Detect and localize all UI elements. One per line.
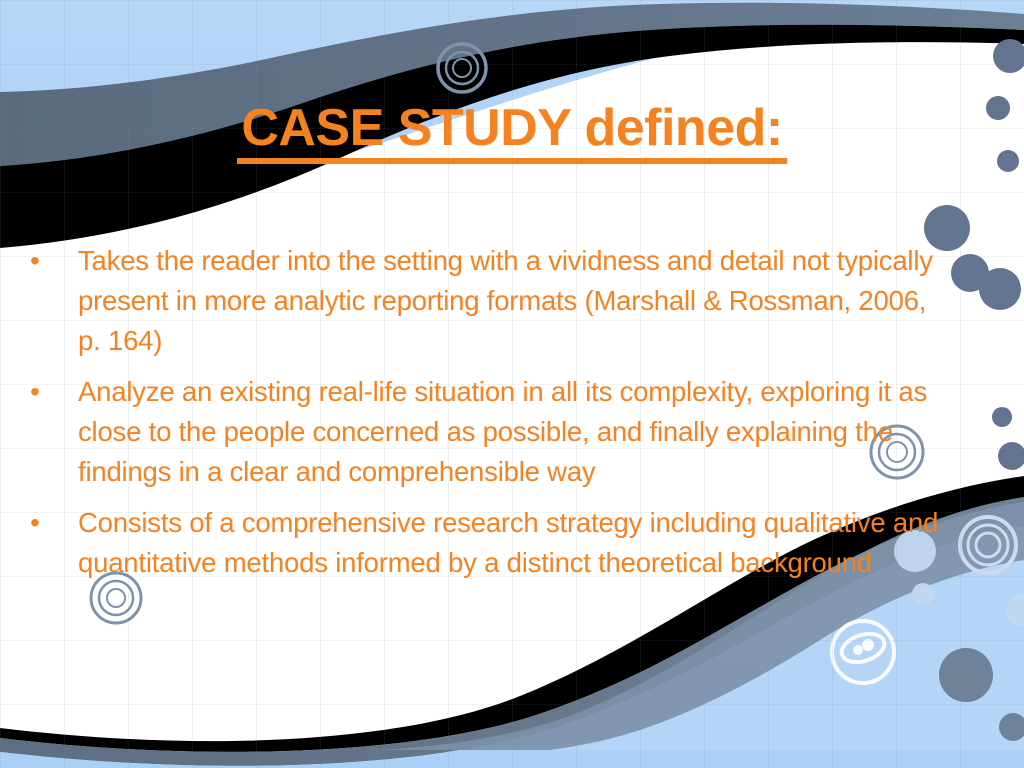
slide-title: CASE STUDY defined: xyxy=(0,98,1024,164)
list-item: • Consists of a comprehensive research s… xyxy=(24,503,954,583)
list-item: • Takes the reader into the setting with… xyxy=(24,241,954,361)
presentation-slide: CASE STUDY defined: • Takes the reader i… xyxy=(0,0,1024,768)
slide-title-text: CASE STUDY defined: xyxy=(237,101,786,164)
bullet-text: Analyze an existing real-life situation … xyxy=(78,372,954,492)
bullet-list: • Takes the reader into the setting with… xyxy=(24,241,954,594)
bullet-text: Takes the reader into the setting with a… xyxy=(78,241,954,361)
bullet-marker-icon: • xyxy=(24,241,78,281)
bullet-marker-icon: • xyxy=(24,372,78,412)
bullet-marker-icon: • xyxy=(24,503,78,543)
bullet-text: Consists of a comprehensive research str… xyxy=(78,503,954,583)
list-item: • Analyze an existing real-life situatio… xyxy=(24,372,954,492)
slide-content: CASE STUDY defined: • Takes the reader i… xyxy=(0,0,1024,768)
